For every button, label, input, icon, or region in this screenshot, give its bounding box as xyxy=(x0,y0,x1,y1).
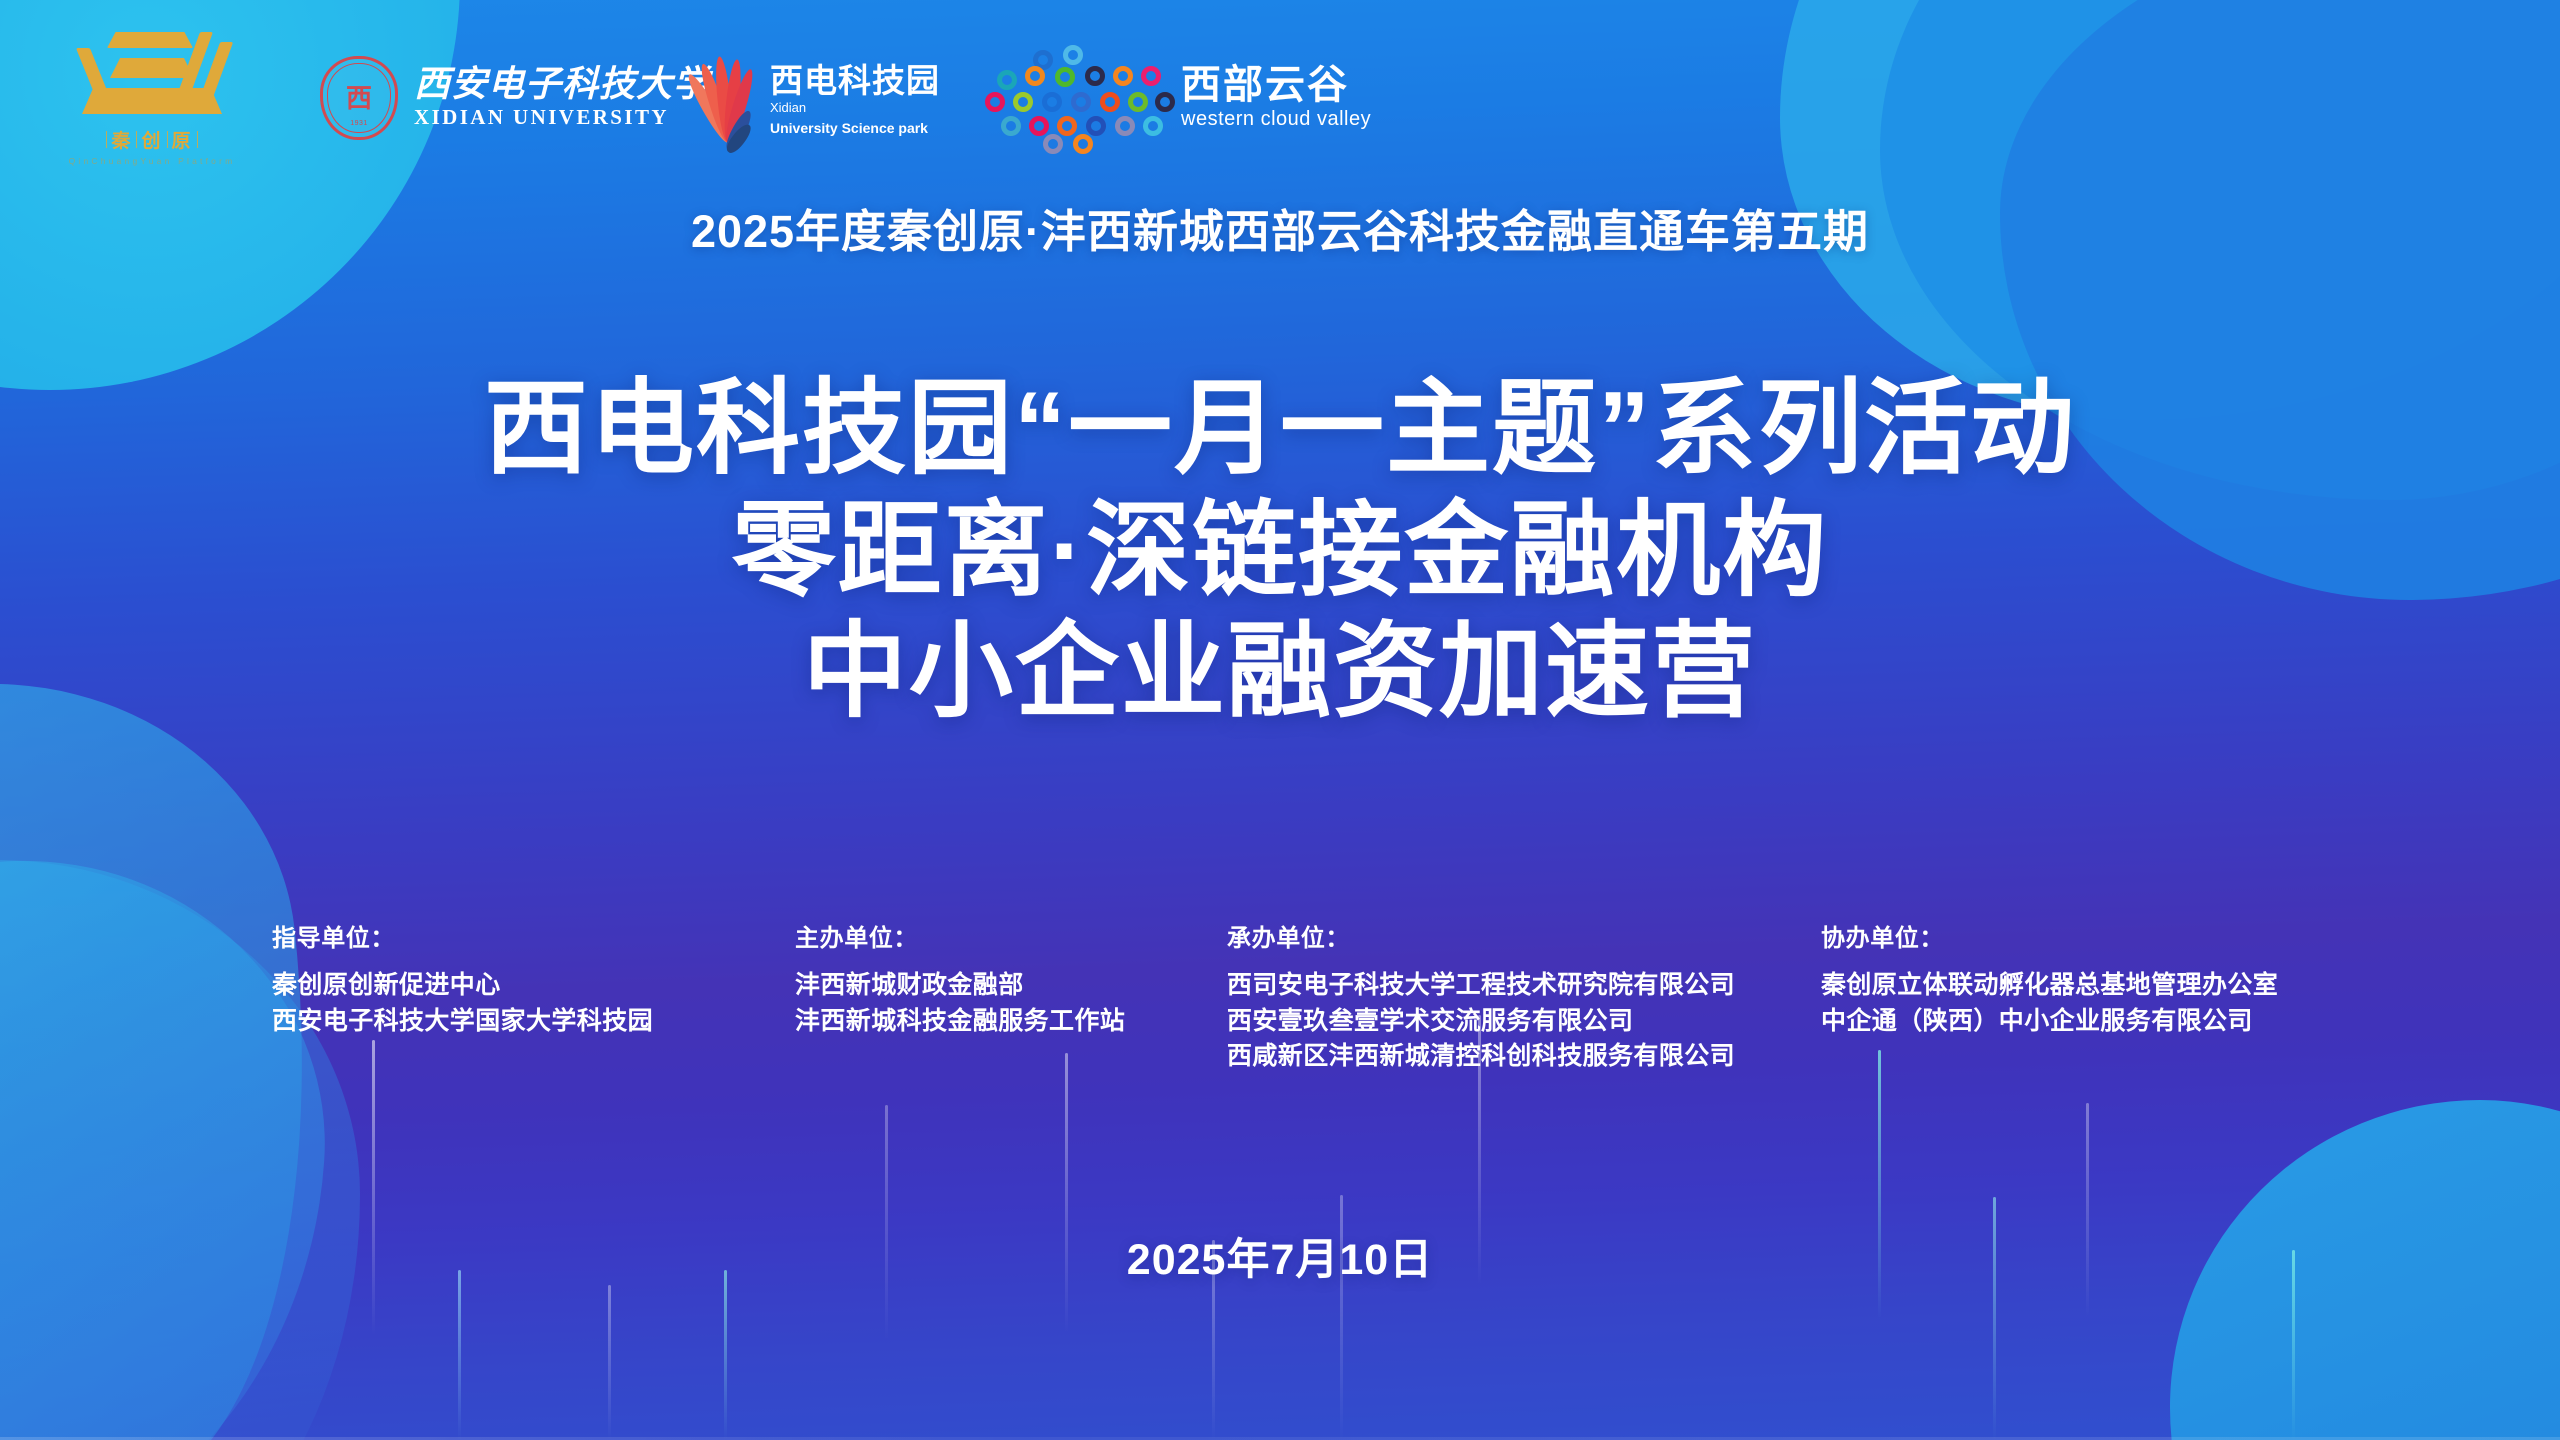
dot-6 xyxy=(1085,66,1105,86)
qinchuangyuan-name: 秦 创 原 xyxy=(62,126,242,153)
dot-21 xyxy=(1143,116,1163,136)
xidian-seal-icon: 西 1931 xyxy=(320,56,398,140)
dot-18 xyxy=(1057,116,1077,136)
science-park-en-line2: University Science park xyxy=(770,120,940,136)
dot-23 xyxy=(1073,134,1093,154)
dot-22 xyxy=(1043,134,1063,154)
unit-line: 沣西新城财政金融部 xyxy=(795,968,1125,1004)
unit-heading: 协办单位： xyxy=(1821,918,2278,953)
dot-9 xyxy=(985,92,1005,112)
unit-line: 西司安电子科技大学工程技术研究院有限公司 xyxy=(1227,968,1735,1004)
unit-line: 西咸新区沣西新城清控科创科技服务有限公司 xyxy=(1227,1039,1735,1075)
unit-heading: 指导单位： xyxy=(272,918,653,953)
science-park-en-line1: Xidian xyxy=(770,101,940,116)
unit-block-coorganizer: 协办单位： 秦创原立体联动孵化器总基地管理办公室 中企通（陕西）中小企业服务有限… xyxy=(1821,918,2278,1039)
qcy-char-1: 秦 xyxy=(111,126,132,153)
dot-20 xyxy=(1115,116,1135,136)
science-park-wordmark: 西电科技园 Xidian University Science park xyxy=(770,64,940,136)
logo-bar: 秦 创 原 QinChuangYuan Platform 西 1931 xyxy=(0,18,2560,168)
unit-block-organizer: 承办单位： 西司安电子科技大学工程技术研究院有限公司 西安壹玖叁壹学术交流服务有… xyxy=(1227,918,1735,1075)
organizing-units: 指导单位： 秦创原创新促进中心 西安电子科技大学国家大学科技园 主办单位： 沣西… xyxy=(0,918,2560,1148)
science-park-cn-name: 西电科技园 xyxy=(770,64,940,97)
banner-title: 2025年度秦创原·沣西新城西部云谷科技金融直通车第五期 xyxy=(0,195,2560,260)
dot-11 xyxy=(1042,92,1062,112)
headline-line-3: 中小企业融资加速营 xyxy=(0,613,2560,733)
qinchuangyuan-mark-icon xyxy=(62,26,242,118)
dot-2 xyxy=(1063,45,1083,65)
logo-western-cloud-valley: 西部云谷 western cloud valley xyxy=(985,44,1371,149)
poster-canvas: 秦 创 原 QinChuangYuan Platform 西 1931 xyxy=(0,0,2560,1440)
dot-5 xyxy=(1055,67,1075,87)
poster-content: 秦 创 原 QinChuangYuan Platform 西 1931 xyxy=(0,0,2560,1440)
unit-line: 秦创原立体联动孵化器总基地管理办公室 xyxy=(1821,968,2278,1004)
dot-12 xyxy=(1071,92,1091,112)
unit-block-host: 主办单位： 沣西新城财政金融部 沣西新城科技金融服务工作站 xyxy=(795,918,1125,1039)
cloud-valley-en-name: western cloud valley xyxy=(1181,109,1371,129)
qcy-arch-top xyxy=(107,32,193,48)
unit-heading: 承办单位： xyxy=(1227,918,1735,953)
dot-7 xyxy=(1113,66,1133,86)
qinchuangyuan-subtitle: QinChuangYuan Platform xyxy=(62,156,242,166)
headline-line-1: 西电科技园“一月一主题”系列活动 xyxy=(0,370,2560,490)
logo-xidian-science-park: 西电科技园 Xidian University Science park xyxy=(688,50,940,150)
qcy-divider-2 xyxy=(136,131,137,148)
qcy-mid-trapezoid xyxy=(110,58,194,78)
unit-line: 沣西新城科技金融服务工作站 xyxy=(795,1004,1125,1040)
dot-19 xyxy=(1086,116,1106,136)
xidian-cn-name: 西安电子科技大学 xyxy=(414,66,710,102)
qcy-char-2: 创 xyxy=(141,126,162,153)
unit-line: 中企通（陕西）中小企业服务有限公司 xyxy=(1821,1004,2278,1040)
dot-14 xyxy=(1128,92,1148,112)
qcy-divider-4 xyxy=(197,131,198,148)
cloud-valley-cn-name: 西部云谷 xyxy=(1181,65,1371,105)
logo-xidian-university: 西 1931 西安电子科技大学 XIDIAN UNIVERSITY xyxy=(320,56,710,140)
main-headline: 西电科技园“一月一主题”系列活动 零距离·深链接金融机构 中小企业融资加速营 xyxy=(0,370,2560,733)
dot-10 xyxy=(1013,92,1033,112)
dot-15 xyxy=(1155,92,1175,112)
xidian-en-name: XIDIAN UNIVERSITY xyxy=(414,105,710,130)
xidian-wordmark: 西安电子科技大学 XIDIAN UNIVERSITY xyxy=(414,66,710,130)
dot-13 xyxy=(1100,92,1120,112)
seal-year: 1931 xyxy=(320,120,398,127)
feather-wing-icon xyxy=(688,50,756,150)
unit-block-guidance: 指导单位： 秦创原创新促进中心 西安电子科技大学国家大学科技园 xyxy=(272,918,653,1039)
qcy-divider-3 xyxy=(167,131,168,148)
unit-heading: 主办单位： xyxy=(795,918,1125,953)
dot-16 xyxy=(1001,116,1021,136)
qcy-diagonal-left xyxy=(76,48,110,98)
seal-glyph: 西 xyxy=(346,85,372,111)
dot-3 xyxy=(997,70,1017,90)
dot-17 xyxy=(1029,116,1049,136)
qcy-divider-1 xyxy=(106,131,107,148)
unit-line: 秦创原创新促进中心 xyxy=(272,968,653,1004)
headline-line-2: 零距离·深链接金融机构 xyxy=(0,492,2560,612)
qcy-char-3: 原 xyxy=(172,126,193,153)
unit-line: 西安壹玖叁壹学术交流服务有限公司 xyxy=(1227,1004,1735,1040)
event-date: 2025年7月10日 xyxy=(0,1225,2560,1287)
dot-4 xyxy=(1025,66,1045,86)
logo-qinchuangyuan: 秦 创 原 QinChuangYuan Platform xyxy=(62,26,242,166)
cloud-valley-dots-icon xyxy=(985,44,1163,149)
cloud-valley-wordmark: 西部云谷 western cloud valley xyxy=(1181,65,1371,129)
unit-line: 西安电子科技大学国家大学科技园 xyxy=(272,1004,653,1040)
dot-8 xyxy=(1141,66,1161,86)
